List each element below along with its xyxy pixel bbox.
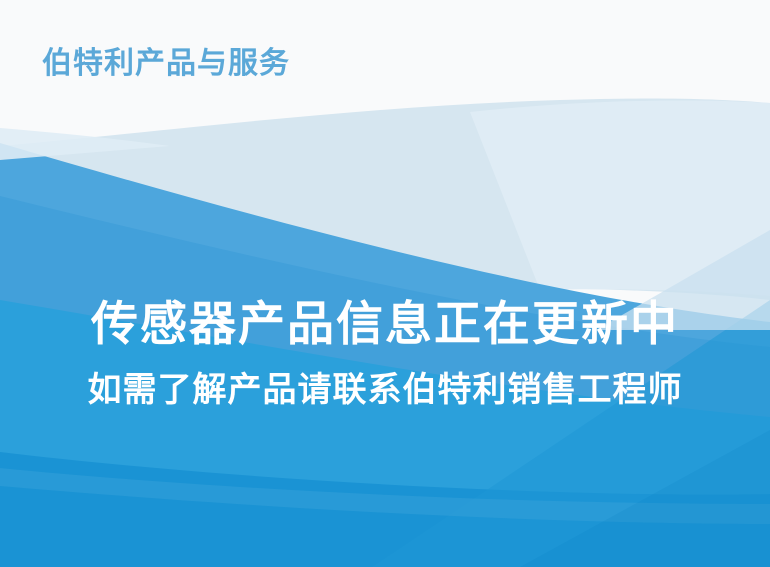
page-title: 伯特利产品与服务 [42, 44, 290, 84]
message-block: 传感器产品信息正在更新中 如需了解产品请联系伯特利销售工程师 [0, 296, 770, 412]
headline-text: 传感器产品信息正在更新中 [0, 296, 770, 354]
product-service-banner: 伯特利产品与服务 传感器产品信息正在更新中 如需了解产品请联系伯特利销售工程师 [0, 0, 770, 567]
subheadline-text: 如需了解产品请联系伯特利销售工程师 [0, 354, 770, 412]
abstract-wave-background [0, 0, 770, 567]
